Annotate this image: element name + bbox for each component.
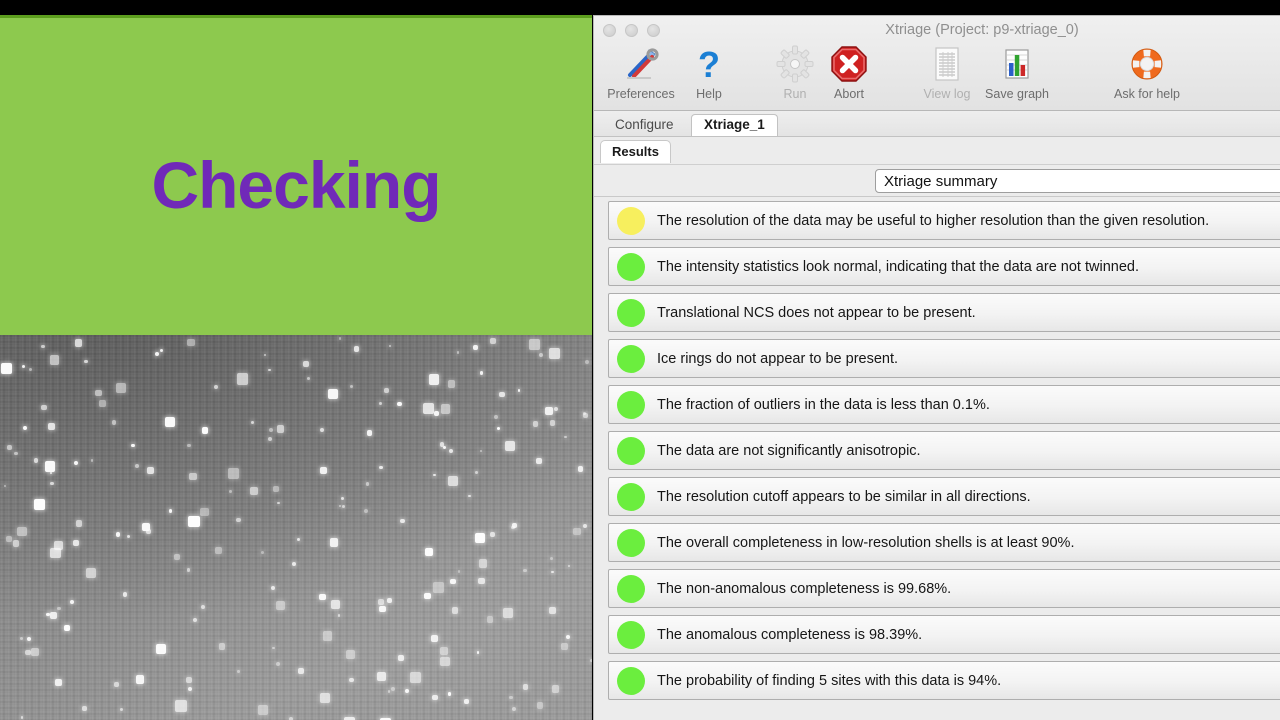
diffraction-spot [271,586,275,590]
diffraction-spot [307,377,311,381]
diffraction-spot [549,607,556,614]
result-row[interactable]: The resolution cutoff appears to be simi… [608,477,1280,516]
diffraction-spot [4,485,6,487]
diffraction-spot [237,373,249,385]
toolbar-label-ask-for-help: Ask for help [1104,87,1190,101]
diffraction-spot [135,464,139,468]
diffraction-spots-layer [0,335,592,720]
diffraction-spot [251,421,254,424]
tab-configure[interactable]: Configure [602,114,687,136]
result-row[interactable]: The intensity statistics look normal, in… [608,247,1280,286]
diffraction-spot [452,607,459,614]
diffraction-spot [50,482,54,486]
diffraction-spot [50,472,53,475]
diffraction-spot [338,614,340,616]
diffraction-spot [440,647,448,655]
diffraction-spot [120,708,123,711]
diffraction-spot [297,538,300,541]
lifesaver-icon [1104,42,1190,86]
diffraction-spot [349,678,353,682]
diffraction-spot [276,601,285,610]
diffraction-spot [440,657,450,667]
diffraction-spot [160,349,162,351]
diffraction-spot [566,635,570,639]
diffraction-spot [551,571,554,574]
diffraction-spot [147,467,154,474]
diffraction-spot [114,682,120,688]
diffraction-spot [17,527,26,536]
result-row[interactable]: Ice rings do not appear to be present. [608,339,1280,378]
result-row[interactable]: The anomalous completeness is 98.39%. [608,615,1280,654]
diffraction-spot [529,339,540,350]
diffraction-spot [391,687,395,691]
xtriage-app-window: Xtriage (Project: p9-xtriage_0) Preferen… [593,15,1280,720]
diffraction-spot [41,405,46,410]
diffraction-spot [174,554,180,560]
slide-title-card: Checking data quality with Xtriage [0,15,592,335]
diffraction-spot [123,592,127,596]
diffraction-spot [497,427,500,430]
result-row[interactable]: Translational NCS does not appear to be … [608,293,1280,332]
diffraction-spot [14,452,17,455]
summary-selector-row: Xtriage summary [594,165,1280,197]
diffraction-spot [425,548,433,556]
diffraction-spot [364,509,368,513]
diffraction-spot [503,608,512,617]
diffraction-spot [215,547,222,554]
diffraction-spot [533,421,538,426]
diffraction-spot [433,582,444,593]
diffraction-spot [377,672,386,681]
diffraction-spot [20,637,23,640]
diffraction-spot [354,346,360,352]
result-text: Translational NCS does not appear to be … [657,305,976,321]
diffraction-spot [273,486,279,492]
diffraction-spot [41,345,45,349]
diffraction-spot [378,599,384,605]
result-row[interactable]: The data are not significantly anisotrop… [608,431,1280,470]
diffraction-spot [50,355,60,365]
diffraction-spot [55,679,62,686]
diffraction-spot [448,692,451,695]
tab-xtriage-1[interactable]: Xtriage_1 [691,114,778,136]
diffraction-spot [487,616,494,623]
diffraction-spot [95,390,102,397]
diffraction-spot [76,520,83,527]
toolbar-label-save-graph: Save graph [974,87,1060,101]
diffraction-spot [188,687,192,691]
diffraction-spot [512,707,517,712]
diffraction-spot [193,618,197,622]
diffraction-spot [298,668,304,674]
result-row[interactable]: The resolution of the data may be useful… [608,201,1280,240]
diffraction-spot [237,670,240,673]
diffraction-spot [433,474,436,477]
diffraction-spot [201,605,205,609]
diffraction-spot [261,551,264,554]
diffraction-spot [75,339,82,346]
diffraction-spot [564,436,567,439]
help-icon: ? [666,42,752,86]
diffraction-spot [186,677,192,683]
toolbar: Preferences ? Help [594,42,1280,111]
save-graph-icon [974,42,1060,86]
diffraction-spot [464,699,469,704]
status-badge [617,575,645,603]
diffraction-spot [303,361,309,367]
diffraction-spot [84,360,87,363]
status-badge [617,253,645,281]
diffraction-spot [475,471,477,473]
diffraction-spot [136,675,145,684]
diffraction-spot [379,402,382,405]
toolbar-label-help: Help [666,87,752,101]
diffraction-spot [112,420,116,424]
diffraction-spot [34,499,45,510]
diffraction-spot [431,635,438,642]
diffraction-spot [457,351,459,353]
summary-combo-box[interactable]: Xtriage summary [875,169,1280,193]
diffraction-spot [490,338,497,345]
diffraction-spot [31,648,38,655]
result-text: The intensity statistics look normal, in… [657,259,1139,275]
diffraction-spot [175,700,187,712]
diffraction-spot [214,385,217,388]
diffraction-spot [490,532,495,537]
status-badge [617,207,645,235]
diffraction-spot [545,407,553,415]
diffraction-spot [169,509,172,512]
diffraction-spot [367,430,372,435]
results-list[interactable]: The resolution of the data may be useful… [594,197,1280,714]
diffraction-spot [561,643,567,649]
diffraction-spot [25,650,31,656]
result-text: The data are not significantly anisotrop… [657,443,921,459]
diffraction-spot [64,625,70,631]
result-text: The anomalous completeness is 98.39%. [657,627,922,643]
diffraction-spot [219,643,226,650]
diffraction-spot [268,369,271,372]
toolbar-button-help[interactable]: ? Help [666,42,752,101]
diffraction-spot [34,458,39,463]
diffraction-spot [549,348,560,359]
diffraction-spot [449,449,453,453]
diffraction-spot [550,557,553,560]
diffraction-spot [99,400,106,407]
diffraction-spot [388,690,391,693]
tab-results[interactable]: Results [600,140,671,163]
diffraction-spot [410,672,421,683]
diffraction-spot [518,389,521,392]
diffraction-spot [583,412,586,415]
diffraction-spot [73,540,79,546]
slide-panel: Checking data quality with Xtriage [0,15,592,720]
diffraction-spot [505,441,515,451]
diffraction-spot [116,532,121,537]
diffraction-spot [523,569,527,573]
diffraction-spot [379,606,385,612]
diffraction-spot [29,368,32,371]
diffraction-spot [434,411,439,416]
status-badge [617,391,645,419]
diffraction-spot [512,523,517,528]
diffraction-spot [57,607,60,610]
diffraction-spot [405,689,409,693]
diffraction-spot [554,407,558,411]
diffraction-spot [499,392,505,398]
status-badge [617,345,645,373]
diffraction-spot [523,684,529,690]
diffraction-spot [6,536,13,543]
diffraction-spot [21,716,23,718]
toolbar-button-abort[interactable]: Abort [806,42,892,101]
diffraction-spot [537,702,544,709]
screenshot-root: Checking data quality with Xtriage Xtria… [0,0,1280,720]
diffraction-spot [429,374,440,385]
diffraction-spot [590,659,592,662]
diffraction-spot [387,598,392,603]
diffraction-spot [578,466,584,472]
toolbar-button-save-graph[interactable]: Save graph [974,42,1060,101]
result-text: The probability of finding 5 sites with … [657,673,1001,689]
diffraction-spot [480,371,483,374]
result-row[interactable]: The fraction of outliers in the data is … [608,385,1280,424]
diffraction-spot [320,467,328,475]
diffraction-spot [50,612,57,619]
diffraction-spot [91,459,94,462]
diffraction-spot [268,437,272,441]
diffraction-spot [202,427,208,433]
diffraction-spot [131,444,135,448]
diffraction-spot [550,420,555,425]
window-title: Xtriage (Project: p9-xtriage_0) [594,22,1280,38]
diffraction-spot [328,389,337,398]
diffraction-spot [478,578,485,585]
diffraction-spot [116,383,126,393]
diffraction-spot [379,466,382,469]
diffraction-spot [573,528,580,535]
diffraction-spot [331,600,340,609]
diffraction-spot [389,345,392,348]
diffraction-spot [142,523,149,530]
diffraction-spot [155,352,159,356]
diffraction-spot [473,345,478,350]
diffraction-spot [187,339,194,346]
diffraction-spot [229,490,232,493]
diffraction-spot [509,696,513,700]
diffraction-spot [346,650,355,659]
diffraction-spot [477,651,479,653]
toolbar-label-abort: Abort [806,87,892,101]
result-row[interactable]: The probability of finding 5 sites with … [608,661,1280,700]
diffraction-spot [82,706,87,711]
status-badge [617,529,645,557]
diffraction-spot [228,468,239,479]
svg-text:?: ? [698,44,720,84]
diffraction-spot [187,568,191,572]
diffraction-spot [468,495,471,498]
diffraction-spot [127,535,130,538]
diffraction-spot [74,461,78,465]
diffraction-spot [319,594,326,601]
diffraction-spot [583,524,587,528]
window-titlebar: Xtriage (Project: p9-xtriage_0) Preferen… [594,16,1280,111]
diffraction-spot [398,655,404,661]
diffraction-spot [1,363,12,374]
diffraction-spot [264,354,266,356]
diffraction-spot [45,461,55,471]
diffraction-spot [70,600,74,604]
diffraction-spot [432,695,438,701]
diffraction-spot [258,705,268,715]
diffraction-spot [479,559,487,567]
diffraction-spot [552,685,559,692]
diffraction-spot [448,380,455,387]
diffraction-spot [342,505,344,507]
diffraction-spot [276,662,280,666]
diffraction-spot [339,337,342,340]
diffraction-spot [323,631,333,641]
diffraction-spot [13,540,19,546]
diffraction-spot [27,637,31,641]
diffraction-spot [450,579,456,585]
diffraction-spot [397,402,402,407]
tabstrip: Configure Xtriage_1 [594,111,1280,137]
diffraction-spot [22,365,25,368]
abort-icon [806,42,892,86]
diffraction-spot [236,518,241,523]
diffraction-spot [384,388,388,392]
diffraction-spot [536,458,542,464]
diffraction-spot [448,476,458,486]
diffraction-spot [320,693,330,703]
diffraction-spot [568,565,571,568]
diffraction-spot [188,516,199,527]
diffraction-spot [277,502,280,505]
diffraction-spot [339,505,342,508]
diffraction-spot [165,417,174,426]
diffraction-spot [250,487,258,495]
diffraction-spot [350,385,354,389]
result-row[interactable]: The overall completeness in low-resoluti… [608,523,1280,562]
subtabstrip: Results [594,137,1280,165]
diffraction-spot [200,508,209,517]
status-badge [617,667,645,695]
status-badge [617,437,645,465]
diffraction-spot [480,450,483,453]
title-line-1: Checking [0,137,592,234]
result-text: The resolution cutoff appears to be simi… [657,489,1031,505]
diffraction-spot [50,548,60,558]
diffraction-spot [424,593,431,600]
diffraction-spot [341,497,344,500]
diffraction-spot [539,353,543,357]
status-badge [617,483,645,511]
diffraction-spot [423,403,434,414]
diffraction-spot [475,533,484,542]
result-row[interactable]: The non-anomalous completeness is 99.68%… [608,569,1280,608]
result-text: The fraction of outliers in the data is … [657,397,990,413]
result-text: The overall completeness in low-resoluti… [657,535,1074,551]
toolbar-button-ask-for-help[interactable]: Ask for help [1104,42,1190,101]
diffraction-spot [23,426,27,430]
result-text: Ice rings do not appear to be present. [657,351,898,367]
diffraction-spot [458,570,461,573]
diffraction-spot [277,425,285,433]
diffraction-image [0,335,592,720]
status-badge [617,621,645,649]
result-text: The non-anomalous completeness is 99.68%… [657,581,951,597]
diffraction-spot [269,428,273,432]
diffraction-spot [585,360,589,364]
diffraction-spot [48,423,55,430]
diffraction-spot [156,644,166,654]
diffraction-spot [189,473,197,481]
diffraction-spot [272,647,274,649]
diffraction-spot [400,519,404,523]
diffraction-spot [292,562,297,567]
diffraction-spot [330,538,338,546]
diffraction-spot [320,428,324,432]
diffraction-spot [441,404,450,413]
diffraction-spot [443,446,446,449]
status-badge [617,299,645,327]
diffraction-spot [366,482,369,485]
diffraction-spot [187,444,190,447]
diffraction-spot [86,568,96,578]
result-text: The resolution of the data may be useful… [657,213,1209,229]
diffraction-spot [494,415,498,419]
diffraction-spot [7,445,13,451]
